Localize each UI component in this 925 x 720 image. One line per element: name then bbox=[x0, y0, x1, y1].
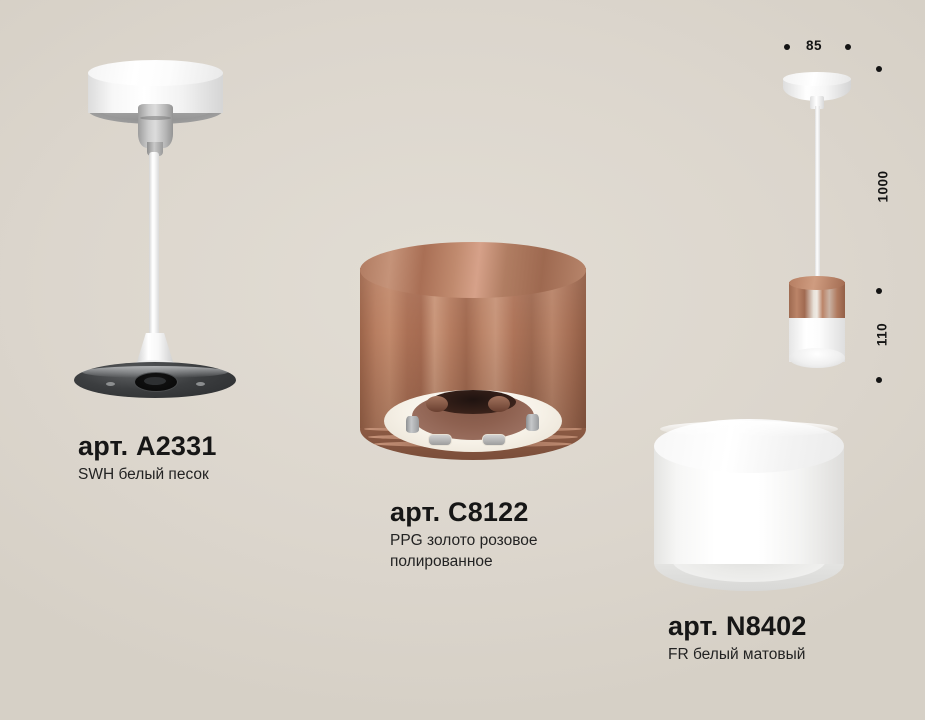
finish-name-a2331: SWH белый песок bbox=[78, 465, 217, 486]
screw-slot-left bbox=[428, 434, 452, 446]
assembly-white-diffuser-bottom bbox=[789, 348, 845, 368]
dimension-marker-1000-bottom bbox=[876, 288, 882, 294]
dimension-marker-1000-top bbox=[876, 66, 882, 72]
canopy-top bbox=[88, 60, 223, 86]
article-code-n8402: арт. N8402 bbox=[668, 612, 807, 640]
assembly-suspension-cable bbox=[815, 106, 820, 281]
finish-name-c8122: PPG золото розовое полированное bbox=[390, 531, 600, 573]
mounting-stud-left bbox=[406, 416, 419, 433]
product-image-assembly bbox=[760, 60, 890, 390]
label-c8122: арт. C8122 PPG золото розовое полированн… bbox=[390, 498, 600, 573]
base-plate-screw-right bbox=[196, 382, 205, 386]
article-code-a2331: арт. A2331 bbox=[78, 432, 217, 460]
dimension-marker-85-right bbox=[845, 44, 851, 50]
suspension-cable bbox=[149, 152, 159, 340]
assembly-canopy-top bbox=[783, 72, 851, 86]
product-image-n8402 bbox=[640, 405, 860, 605]
housing-top-face bbox=[360, 242, 586, 298]
mounting-stud-right bbox=[526, 414, 539, 431]
diffuser-top-highlight bbox=[660, 421, 838, 437]
dimension-label-110: 110 bbox=[875, 315, 890, 355]
assembly-gold-housing-top bbox=[789, 276, 845, 290]
label-a2331: арт. A2331 SWH белый песок bbox=[78, 432, 217, 486]
product-image-c8122 bbox=[330, 230, 610, 490]
dimension-marker-85-left bbox=[784, 44, 790, 50]
product-diagram-canvas: арт. A2331 SWH белый песок арт. C8122 PP… bbox=[0, 0, 925, 720]
label-n8402: арт. N8402 FR белый матовый bbox=[668, 612, 807, 666]
base-plate-screw-left bbox=[106, 382, 115, 386]
mounting-lug-right bbox=[488, 396, 510, 412]
screw-slot-right bbox=[482, 434, 506, 446]
base-plate-hub-inner bbox=[144, 377, 166, 385]
dimension-label-85: 85 bbox=[806, 38, 822, 53]
cable-gripper-ring bbox=[140, 116, 171, 120]
dimension-marker-110-bottom bbox=[876, 377, 882, 383]
article-code-c8122: арт. C8122 bbox=[390, 498, 600, 526]
dimension-label-1000: 1000 bbox=[876, 165, 891, 209]
mounting-lug-left bbox=[426, 396, 448, 412]
finish-name-n8402: FR белый матовый bbox=[668, 645, 807, 666]
product-image-a2331 bbox=[0, 0, 300, 430]
